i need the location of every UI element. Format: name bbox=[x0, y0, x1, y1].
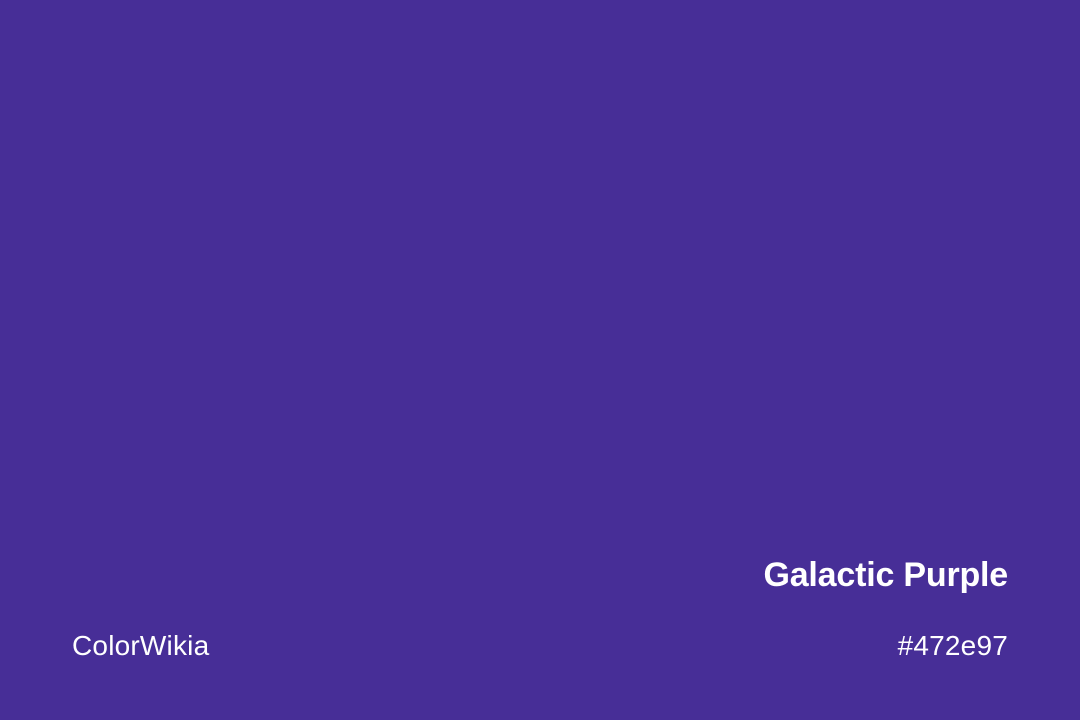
color-swatch-card: Galactic Purple ColorWikia #472e97 bbox=[0, 0, 1080, 720]
brand-label: ColorWikia bbox=[72, 632, 209, 660]
hex-code-label: #472e97 bbox=[898, 632, 1008, 660]
swatch-meta-row: ColorWikia #472e97 bbox=[72, 632, 1008, 660]
color-name-title: Galactic Purple bbox=[72, 558, 1008, 592]
